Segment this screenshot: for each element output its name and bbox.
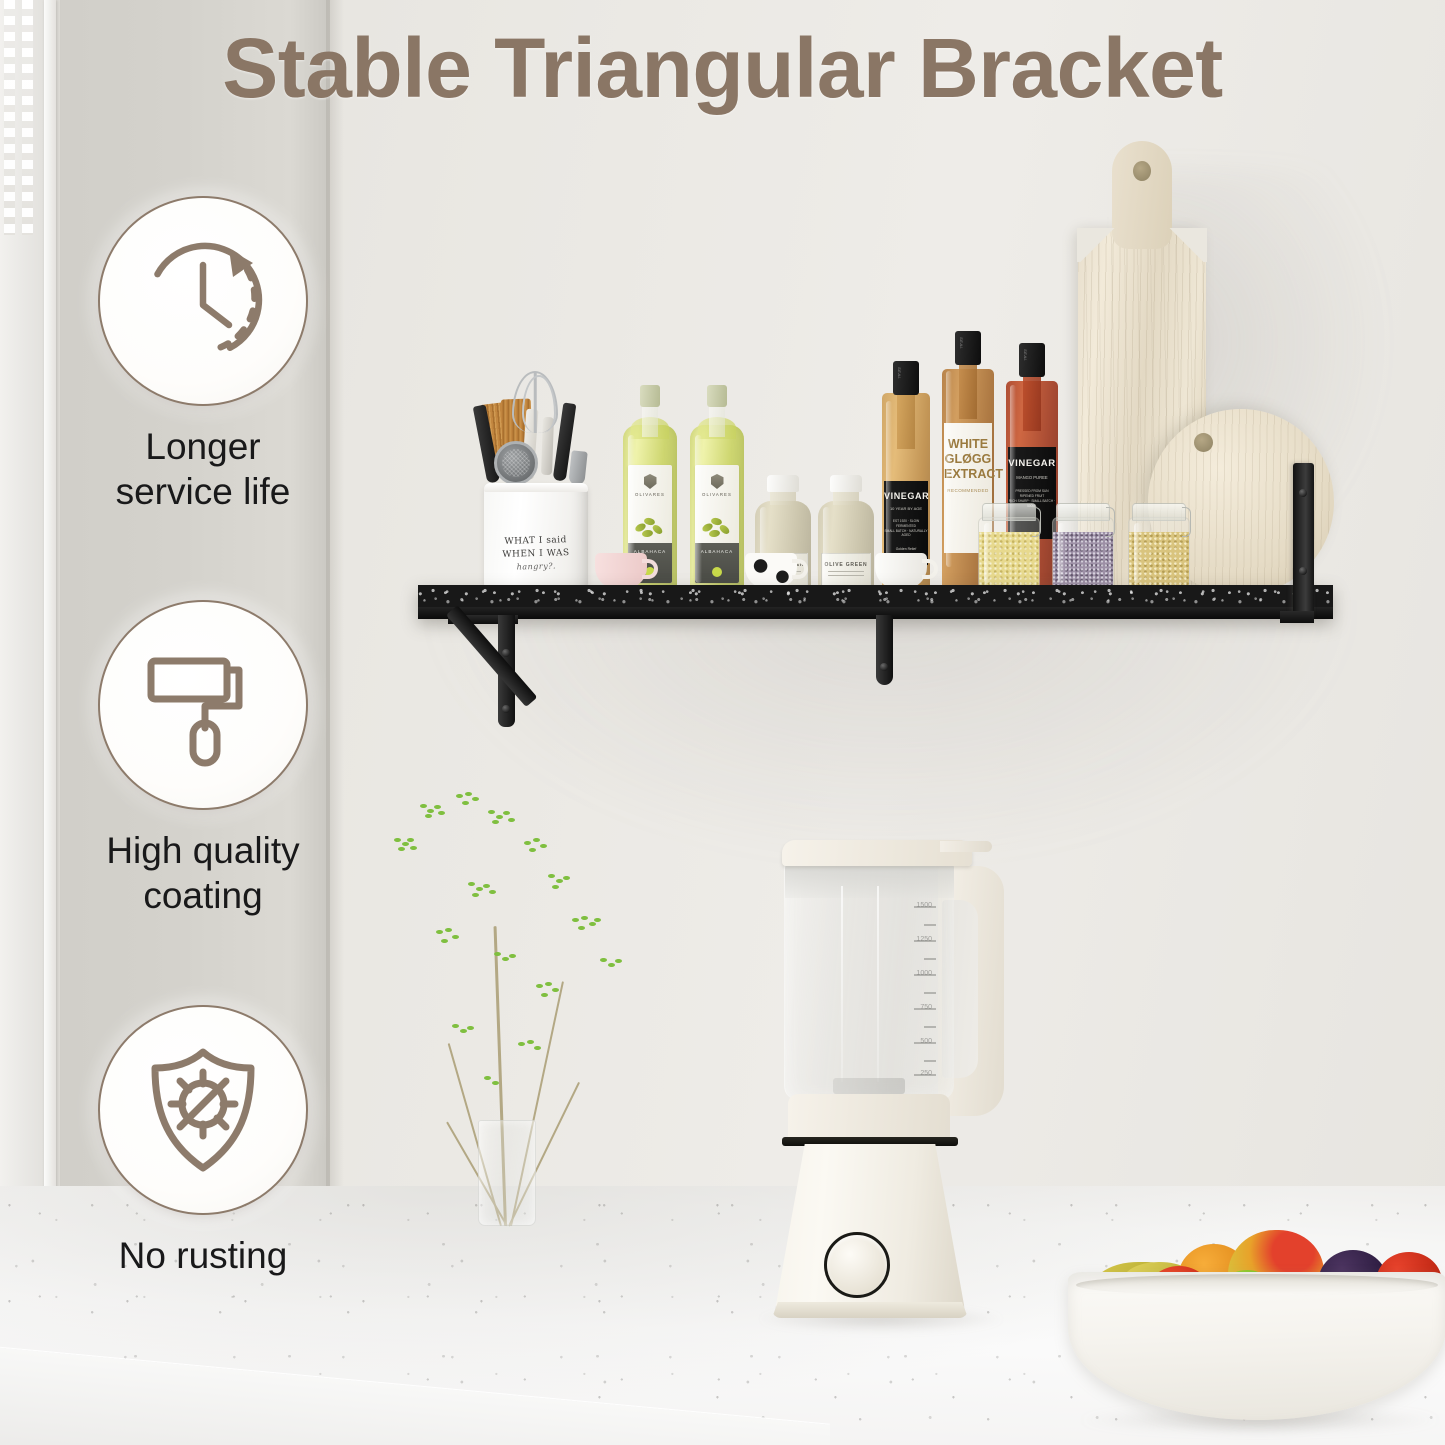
feature-label: High quality coating	[58, 828, 348, 918]
feature-list: Longer service life High quality coating	[58, 196, 348, 1278]
screw-hole	[502, 705, 510, 713]
cup	[745, 553, 797, 589]
bottle-cap	[767, 475, 799, 492]
jar-clamp-icon	[1106, 507, 1115, 537]
cap-text: SEAL	[959, 337, 964, 349]
jar-inner-shade	[785, 862, 954, 898]
screw-hole	[502, 649, 510, 657]
bottle-gloss	[823, 507, 830, 587]
badge-circle	[98, 196, 308, 406]
whisk-icon	[512, 371, 558, 433]
blender-jar: 1500 1250 1000 750 500 250	[784, 862, 954, 1100]
label-rule	[828, 571, 864, 572]
blender-collar	[788, 1094, 950, 1142]
middle-support-strap	[876, 615, 893, 685]
jar-clamp-icon	[1182, 507, 1191, 537]
counter-slab-face	[0, 1344, 830, 1445]
grain-jar-golden	[1128, 503, 1190, 595]
plant-vase	[376, 786, 644, 1226]
scoop-icon	[568, 450, 587, 485]
jar-gloss	[1058, 523, 1065, 583]
jar-lid	[982, 503, 1036, 521]
counter-front-edge	[0, 1330, 830, 1445]
jar-lid	[1132, 503, 1186, 521]
feature-label-line1: High quality	[58, 828, 348, 873]
shield-no-rust-icon	[135, 1042, 271, 1178]
bottle-gloss	[946, 371, 952, 567]
jar-rib	[877, 886, 879, 1082]
label-dot-icon	[712, 567, 722, 577]
right-wall-plate	[1280, 463, 1314, 623]
cup-handle	[922, 559, 938, 579]
screw-hole	[1299, 567, 1307, 575]
window	[0, 0, 60, 1222]
blender-foot	[772, 1302, 968, 1318]
feature-label-line2: service life	[58, 469, 348, 514]
crock-rim	[484, 483, 588, 492]
bottle-neck	[959, 361, 977, 419]
feature-high-quality-coating: High quality coating	[58, 600, 348, 918]
left-triangular-bracket	[448, 615, 578, 730]
shelf-board	[418, 585, 1333, 619]
crest-icon	[644, 474, 657, 489]
blender-blade	[833, 1078, 905, 1094]
bottle-cap: SEAL	[893, 361, 919, 395]
board-handle	[1112, 141, 1172, 249]
cup	[595, 553, 647, 589]
fruit-bowl	[1068, 1200, 1445, 1432]
feature-label-line1: Longer	[58, 424, 348, 469]
bottle-cap: SEAL	[1019, 343, 1045, 377]
feature-label: Longer service life	[58, 424, 348, 514]
blender-control-knob[interactable]	[824, 1232, 890, 1298]
jar-measure-marks: 1500 1250 1000 750 500 250	[890, 906, 936, 1076]
screw-hole	[880, 663, 888, 671]
label-rule	[828, 575, 864, 576]
crock-text-line3: hangry?.	[517, 562, 557, 572]
blender-lid-spout	[940, 841, 992, 852]
feature-label-line1: No rusting	[58, 1233, 348, 1278]
screw-hole	[1299, 489, 1307, 497]
badge-circle	[98, 1005, 308, 1215]
board-shoulder-right	[1167, 228, 1207, 262]
bracket-wall-arm	[1293, 463, 1314, 621]
grain-jar-yellow	[978, 503, 1040, 595]
paint-roller-icon	[137, 639, 269, 771]
utensil-group	[480, 369, 592, 485]
feature-longer-service-life: Longer service life	[58, 196, 348, 514]
cup-handle	[642, 559, 658, 579]
floating-shelf	[418, 585, 1333, 725]
board-hanging-hole	[1194, 433, 1213, 452]
jar-gloss	[984, 523, 991, 583]
bottle-cap	[707, 385, 727, 407]
bottle-cap	[640, 385, 660, 407]
jar-gloss	[1134, 523, 1141, 583]
bottle-cap	[830, 475, 862, 492]
window-frame	[44, 0, 56, 1222]
bottle-neck	[1023, 373, 1041, 431]
sieve-icon	[494, 441, 538, 485]
crock-text: WHAT I said WHEN I WAS hangry?.	[493, 534, 580, 575]
board-shoulder-left	[1077, 228, 1117, 262]
glass-vase	[478, 1120, 536, 1226]
blender: 1500 1250 1000 750 500 250	[762, 840, 1002, 1320]
jar-clamp-icon	[1032, 507, 1041, 537]
feature-label-line2: coating	[58, 873, 348, 918]
bottle-gloss	[695, 435, 702, 583]
jar-lid	[1056, 503, 1110, 521]
badge-circle	[98, 600, 308, 810]
utensil-crock: WHAT I said WHEN I WAS hangry?.	[484, 483, 588, 595]
jar-rib	[841, 886, 843, 1082]
crock-text-line2: WHEN I WAS	[493, 547, 579, 562]
feature-label: No rusting	[58, 1233, 348, 1278]
cap-text: SEAL	[897, 367, 902, 379]
feature-no-rusting: No rusting	[58, 1005, 348, 1278]
cup-handle	[792, 559, 808, 579]
grain-jar-purple	[1052, 503, 1114, 595]
clock-refresh-icon	[133, 231, 273, 371]
crest-icon	[711, 474, 724, 489]
bracket-foot	[1280, 611, 1314, 623]
cap-text: SEAL	[1023, 349, 1028, 361]
shelf-contents: WHAT I said WHEN I WAS hangry?. OLIVARES	[418, 140, 1348, 595]
basil-leaf-icon	[635, 515, 665, 539]
cup	[875, 553, 927, 589]
bowl-rim	[1076, 1274, 1438, 1296]
page-title: Stable Triangular Bracket	[0, 20, 1445, 117]
bottle-neck	[897, 391, 915, 449]
bottle-cap: SEAL	[955, 331, 981, 365]
basil-leaf-icon	[702, 515, 732, 539]
